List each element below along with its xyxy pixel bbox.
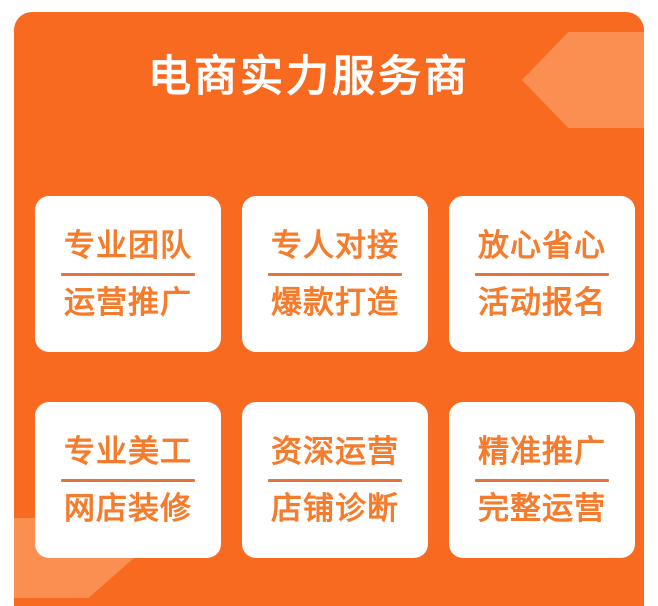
service-card[interactable]: 放心省心 活动报名 (449, 196, 635, 352)
service-card-top-label: 专业美工 (64, 432, 192, 472)
service-card-bottom-label: 店铺诊断 (271, 489, 399, 529)
service-card-top-label: 资深运营 (271, 432, 399, 472)
service-card-bottom-label: 爆款打造 (271, 283, 399, 323)
service-card-divider (61, 479, 195, 482)
orange-panel: 电商实力服务商 专业团队 运营推广 专人对接 爆款打造 放心省心 活动报名 专业… (14, 12, 644, 606)
service-card-divider (475, 273, 609, 276)
service-card-divider (268, 479, 402, 482)
service-card-top-label: 专业团队 (64, 226, 192, 266)
service-card-top-label: 精准推广 (478, 432, 606, 472)
service-card[interactable]: 专人对接 爆款打造 (242, 196, 428, 352)
service-card-divider (61, 273, 195, 276)
service-card[interactable]: 精准推广 完整运营 (449, 402, 635, 558)
page-title: 电商实力服务商 (14, 50, 644, 104)
service-card-grid: 专业团队 运营推广 专人对接 爆款打造 放心省心 活动报名 专业美工 网店装修 (35, 196, 635, 558)
promo-poster: 电商实力服务商 专业团队 运营推广 专人对接 爆款打造 放心省心 活动报名 专业… (0, 0, 658, 606)
service-card-bottom-label: 完整运营 (478, 489, 606, 529)
service-card[interactable]: 专业团队 运营推广 (35, 196, 221, 352)
service-card-bottom-label: 运营推广 (64, 283, 192, 323)
service-card[interactable]: 专业美工 网店装修 (35, 402, 221, 558)
service-card-top-label: 专人对接 (271, 226, 399, 266)
service-card-bottom-label: 活动报名 (478, 283, 606, 323)
service-card-divider (475, 479, 609, 482)
service-card-bottom-label: 网店装修 (64, 489, 192, 529)
service-card-top-label: 放心省心 (478, 226, 606, 266)
service-card[interactable]: 资深运营 店铺诊断 (242, 402, 428, 558)
service-card-divider (268, 273, 402, 276)
